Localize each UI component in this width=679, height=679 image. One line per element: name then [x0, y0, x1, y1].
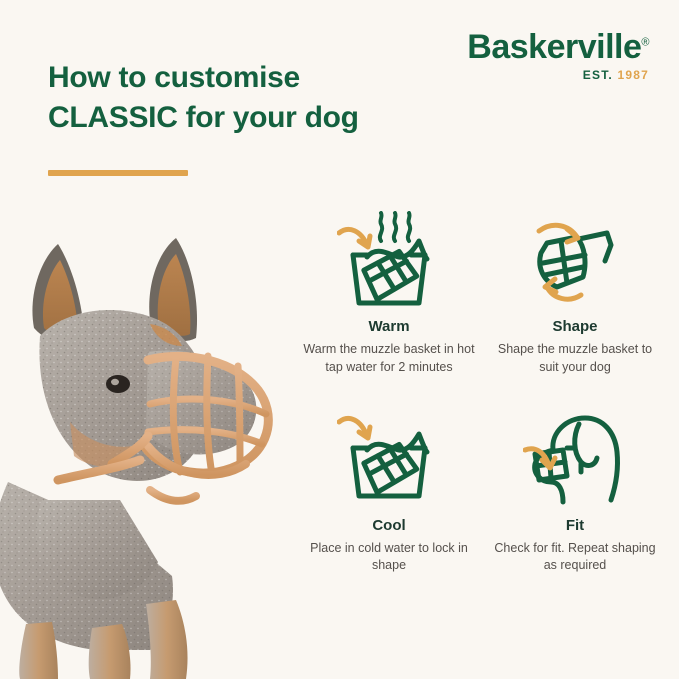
brand-est-year: 1987: [618, 68, 650, 82]
step-title-fit: Fit: [488, 517, 662, 534]
brand-name-text: Baskerville: [467, 28, 641, 66]
dog-ear: [575, 424, 597, 465]
step-desc-fit: Check for fit. Repeat shaping as require…: [488, 540, 662, 576]
dog-front-leg-right: [89, 624, 131, 679]
steam-line-1: [380, 213, 382, 241]
dog-hind-leg: [146, 600, 188, 679]
step-desc-warm: Warm the muzzle basket in hot tap water …: [302, 341, 476, 377]
step-shape: Shape Shape the muzzle basket to suit yo…: [482, 208, 668, 377]
page-title: How to customise CLASSIC for your dog: [48, 58, 418, 137]
infographic-page: Baskerville® EST. 1987 How to customise …: [0, 0, 679, 679]
step-warm: Warm Warm the muzzle basket in hot tap w…: [296, 208, 482, 377]
cool-basin-icon: [302, 407, 476, 513]
brand-name: Baskerville®: [467, 30, 649, 64]
brand-logo: Baskerville® EST. 1987: [467, 30, 649, 81]
step-title-cool: Cool: [302, 517, 476, 534]
steam-line-2: [394, 213, 396, 241]
step-desc-shape: Shape the muzzle basket to suit your dog: [488, 341, 662, 377]
dog-photo: [0, 232, 292, 679]
steps-grid: Warm Warm the muzzle basket in hot tap w…: [296, 208, 668, 575]
steam-line-3: [408, 213, 410, 241]
brand-est-label: EST.: [583, 68, 613, 82]
fit-dog-head-icon: [488, 407, 662, 513]
step-title-shape: Shape: [488, 318, 662, 335]
brand-established: EST. 1987: [467, 69, 649, 81]
step-fit: Fit Check for fit. Repeat shaping as req…: [482, 407, 668, 576]
step-cool: Cool Place in cold water to lock in shap…: [296, 407, 482, 576]
title-accent-bar: [48, 170, 188, 176]
page-title-line-2: CLASSIC for your dog: [48, 101, 359, 134]
shape-muzzle-icon: [488, 208, 662, 314]
arrow-into-basin: [339, 229, 370, 247]
muzzle-basket-in-water: [362, 250, 418, 300]
registered-trademark-icon: ®: [641, 37, 649, 49]
dog-front-leg-left: [19, 622, 58, 679]
arrow-into-basin: [339, 418, 370, 438]
step-desc-cool: Place in cold water to lock in shape: [302, 540, 476, 576]
step-title-warm: Warm: [302, 318, 476, 335]
page-title-line-1: How to customise: [48, 61, 300, 94]
muzzle-basket-in-water: [362, 442, 418, 492]
warm-basin-icon: [302, 208, 476, 314]
